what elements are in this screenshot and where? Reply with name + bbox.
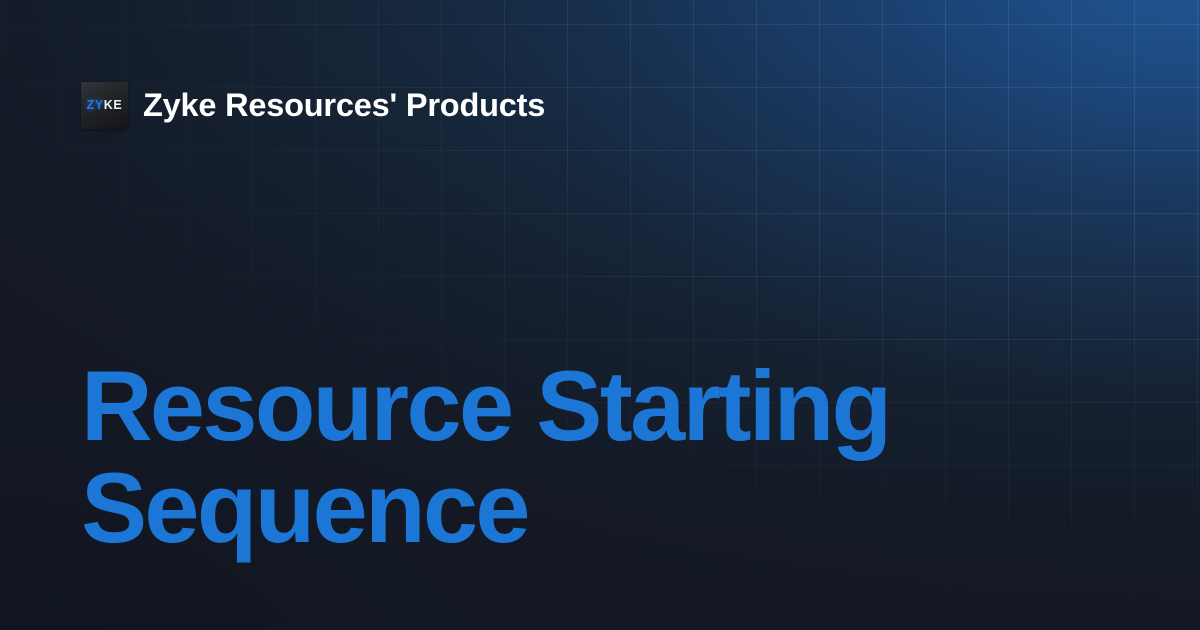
page-title-line-1: Resource Starting xyxy=(81,355,1081,457)
og-share-card: ZYKE Zyke Resources' Products Resource S… xyxy=(0,0,1200,630)
page-title: Resource Starting Sequence xyxy=(81,355,1081,560)
zyke-logo-icon: ZYKE xyxy=(81,82,128,129)
zyke-logo-wordmark: ZYKE xyxy=(87,99,123,112)
zyke-logo-wordmark-secondary: KE xyxy=(104,98,123,112)
card-content: ZYKE Zyke Resources' Products Resource S… xyxy=(0,0,1200,630)
page-title-line-2: Sequence xyxy=(81,457,1081,559)
zyke-logo-wordmark-primary: ZY xyxy=(87,98,104,112)
brand-title: Zyke Resources' Products xyxy=(143,88,545,124)
brand-header: ZYKE Zyke Resources' Products xyxy=(81,82,545,129)
